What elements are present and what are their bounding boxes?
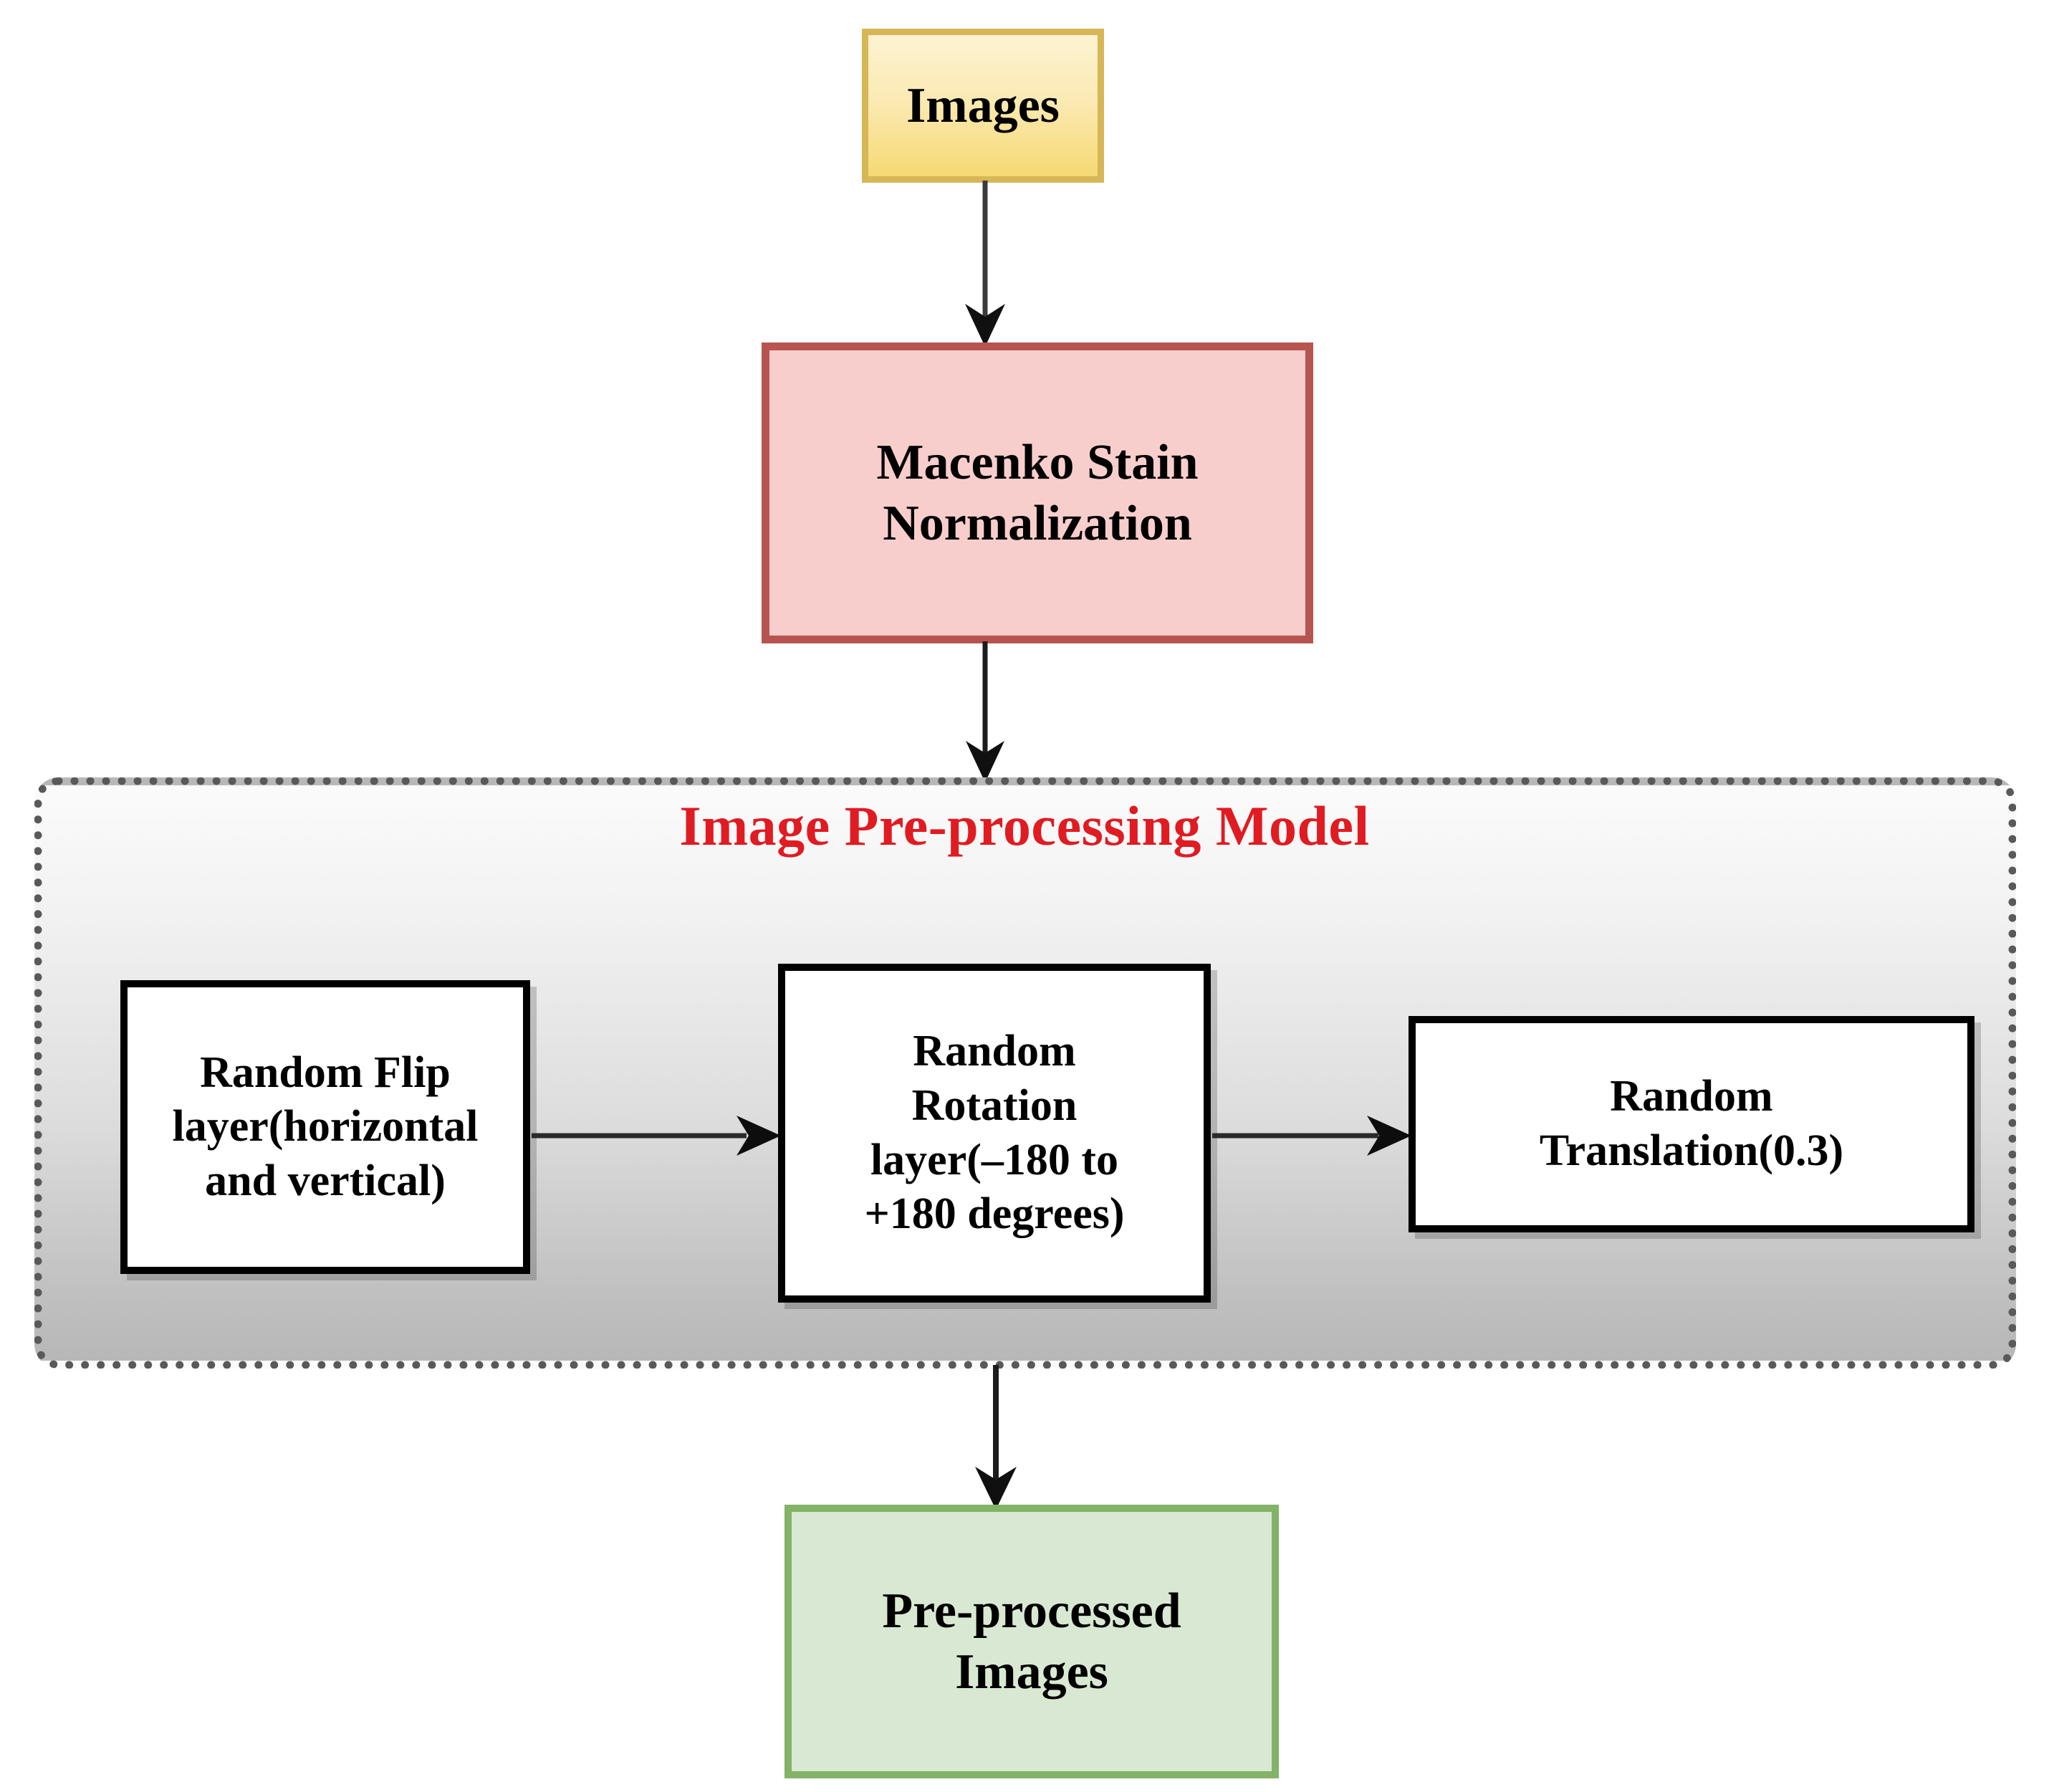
node-random-translation[interactable]: Random Translation(0.3) (1409, 1016, 1974, 1232)
node-images[interactable]: Images (862, 29, 1104, 183)
preprocessing-container-title: Image Pre-processing Model (0, 794, 2049, 858)
arrow-preprocessing-to-output (960, 1365, 1032, 1512)
node-preprocessed-images[interactable]: Pre-processed Images (784, 1505, 1279, 1778)
flowchart-canvas: Images Macenko Stain Normalization Image… (0, 0, 2049, 1792)
node-random-flip-layer[interactable]: Random Flip layer(horizontal and vertica… (120, 980, 530, 1274)
node-random-rotation-layer[interactable]: Random Rotation layer(–180 to +180 degre… (778, 964, 1211, 1303)
arrow-images-to-macenko (949, 181, 1021, 349)
arrow-macenko-to-preprocessing (949, 641, 1021, 785)
node-macenko-stain-normalization[interactable]: Macenko Stain Normalization (762, 342, 1313, 643)
